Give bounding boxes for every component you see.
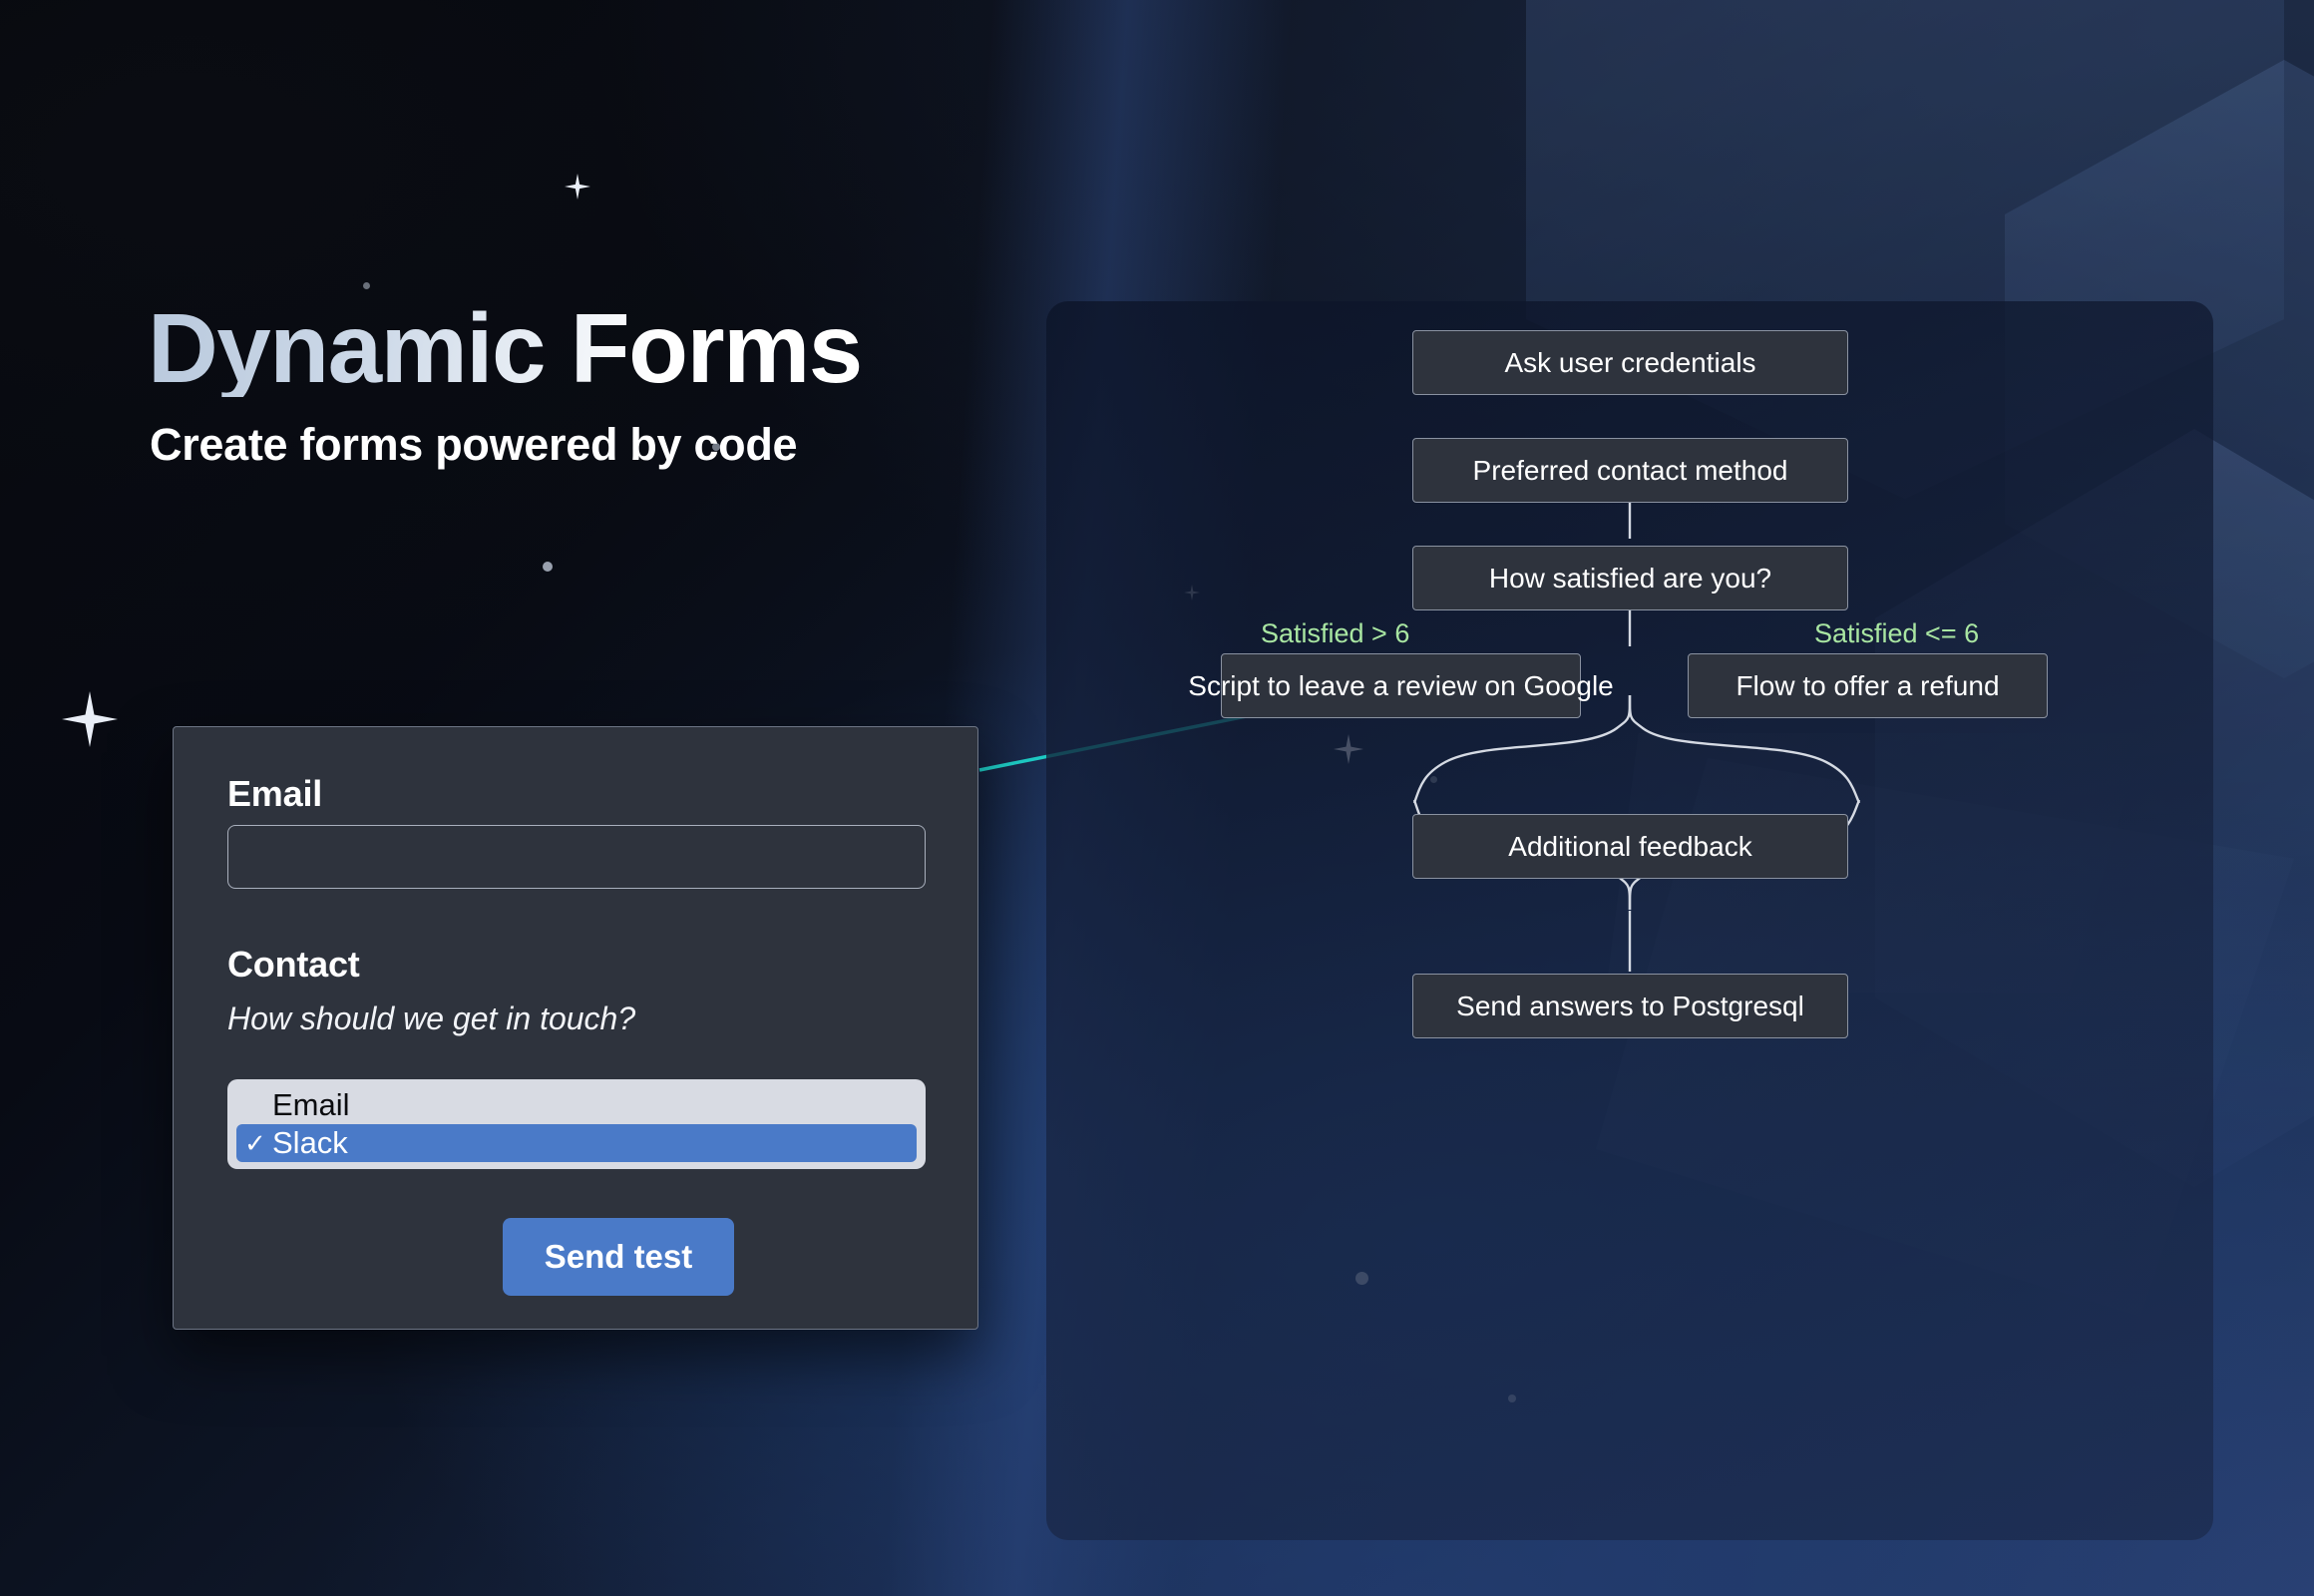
listbox-option-label: Slack — [272, 1125, 348, 1160]
flow-node-label: Additional feedback — [1508, 831, 1751, 863]
email-input[interactable] — [227, 825, 926, 889]
flow-node-satisfaction[interactable]: How satisfied are you? — [1412, 546, 1848, 610]
flow-node-label: Flow to offer a refund — [1735, 670, 1999, 702]
contact-field-help: How should we get in touch? — [227, 1000, 635, 1037]
flow-node-label: Ask user credentials — [1504, 347, 1755, 379]
check-icon: ✓ — [244, 1124, 266, 1162]
flow-node-label: How satisfied are you? — [1489, 563, 1771, 595]
listbox-option-label: Email — [272, 1087, 350, 1122]
screenshot-root: b Dynamic Forms Create forms powered by … — [0, 0, 2314, 1596]
flow-diagram-panel: Ask user credentials Preferred contact m… — [1046, 301, 2213, 1540]
star-dot — [543, 562, 553, 572]
send-test-button[interactable]: Send test — [503, 1218, 734, 1296]
sparkle-icon — [565, 174, 590, 199]
hero-section: Dynamic Forms Create forms powered by co… — [148, 299, 862, 471]
page-title: Dynamic Forms — [148, 299, 862, 397]
edge-label-satisfied-high: Satisfied > 6 — [1261, 618, 1409, 649]
flow-node-label: Preferred contact method — [1473, 455, 1788, 487]
contact-method-listbox[interactable]: Email ✓ Slack — [227, 1079, 926, 1169]
sparkle-icon — [62, 691, 118, 747]
contact-field-label: Contact — [227, 944, 360, 986]
flow-node-postgres[interactable]: Send answers to Postgresql — [1412, 974, 1848, 1038]
edge-label-satisfied-low: Satisfied <= 6 — [1814, 618, 1979, 649]
flow-node-contact-method[interactable]: Preferred contact method — [1412, 438, 1848, 503]
flow-node-feedback[interactable]: Additional feedback — [1412, 814, 1848, 879]
flow-node-review[interactable]: Script to leave a review on Google — [1221, 653, 1581, 718]
page-subtitle: Create forms powered by code — [150, 419, 862, 471]
flow-node-credentials[interactable]: Ask user credentials — [1412, 330, 1848, 395]
form-preview-card: Email Contact How should we get in touch… — [173, 726, 978, 1330]
flow-node-refund[interactable]: Flow to offer a refund — [1688, 653, 2048, 718]
flow-node-label: Send answers to Postgresql — [1456, 991, 1804, 1022]
listbox-option-slack[interactable]: ✓ Slack — [236, 1124, 917, 1162]
flow-node-label: Script to leave a review on Google — [1188, 670, 1613, 702]
star-dot — [363, 282, 370, 289]
email-field-label: Email — [227, 773, 322, 815]
listbox-option-email[interactable]: Email — [236, 1086, 917, 1124]
